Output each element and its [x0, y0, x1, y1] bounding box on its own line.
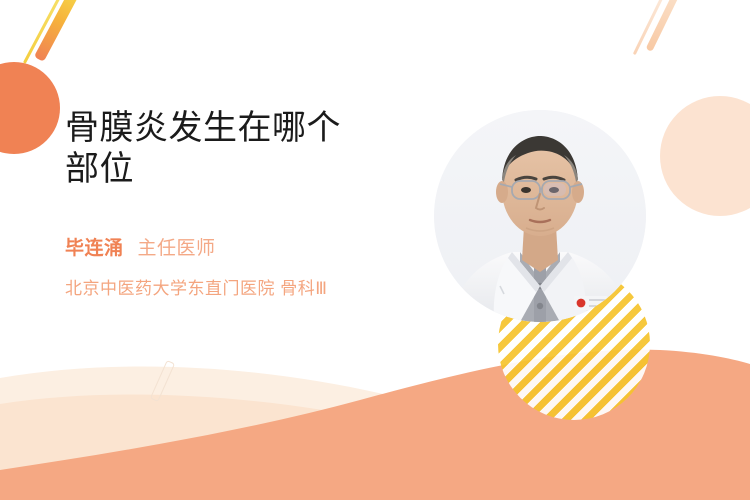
doctor-hospital: 北京中医药大学东直门医院 骨科Ⅲ: [65, 274, 415, 299]
text-column: 骨膜炎发生在哪个 部位 毕连涌 主任医师 北京中医药大学东直门医院 骨科Ⅲ: [65, 108, 415, 299]
doctor-portrait-photo: [434, 110, 646, 322]
doctor-name: 毕连涌: [65, 233, 124, 260]
video-thumbnail-card: 骨膜炎发生在哪个 部位 毕连涌 主任医师 北京中医药大学东直门医院 骨科Ⅲ: [0, 0, 750, 500]
doctor-portrait-illustration: [434, 110, 646, 322]
page-title: 骨膜炎发生在哪个 部位: [65, 108, 415, 191]
doctor-rank: 主任医师: [138, 233, 216, 260]
doctor-credentials: 毕连涌 主任医师: [65, 233, 415, 260]
